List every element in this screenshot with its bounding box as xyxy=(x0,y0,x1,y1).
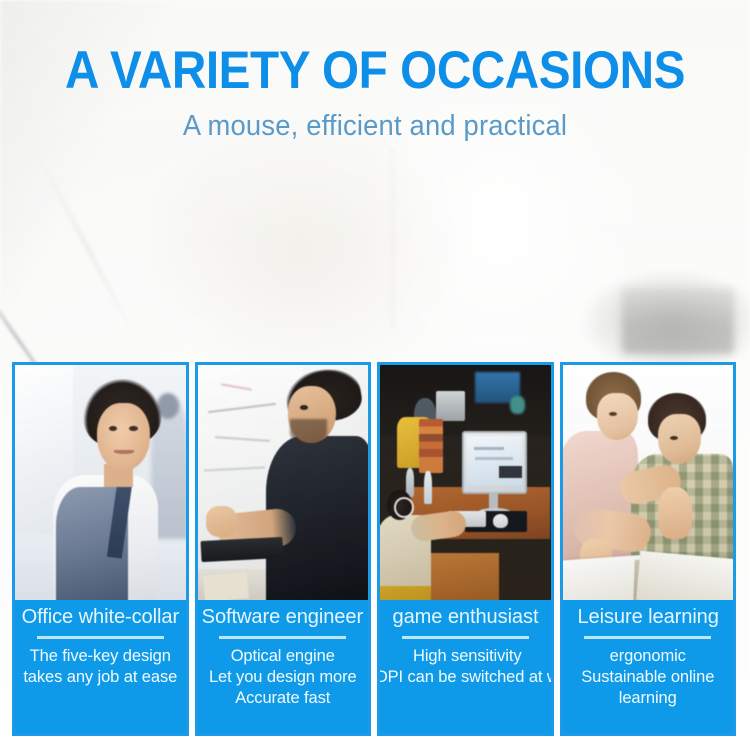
product-marketing-poster: A VARIETY OF OCCASIONS A mouse, efficien… xyxy=(0,0,750,750)
second-student-clasped-hands xyxy=(658,487,692,539)
use-case-panel-leisure-learning[interactable]: Leisure learning ergonomic Sustainable o… xyxy=(560,362,737,736)
panel-photo-leisure-learning xyxy=(563,365,734,600)
page-subtitle: A mouse, efficient and practical xyxy=(15,112,735,141)
first-student-face xyxy=(597,393,638,440)
use-case-panel-office-white-collar[interactable]: Office white-collar The five-key design … xyxy=(12,362,189,736)
teal-object xyxy=(510,396,525,415)
eye xyxy=(300,405,309,410)
caption-line: learning xyxy=(581,688,714,709)
panel-caption-software-engineer: Software engineer Optical engine Let you… xyxy=(198,600,369,733)
beard xyxy=(290,419,328,445)
typing-hand xyxy=(206,506,237,537)
use-case-panel-game-enthusiast[interactable]: game enthusiast High sensitivity DPI can… xyxy=(377,362,554,736)
caption-line: ergonomic xyxy=(581,646,714,667)
caption-line: The five-key design xyxy=(23,646,177,667)
caption-body: Optical engine Let you design more Accur… xyxy=(209,646,357,709)
bookshelf xyxy=(419,419,443,473)
caption-divider xyxy=(402,636,529,639)
caption-title: game enthusiast xyxy=(392,605,538,629)
screen-content-block xyxy=(499,466,521,478)
panel-photo-office-white-collar xyxy=(15,365,186,600)
scene-game-enthusiast xyxy=(380,365,551,600)
caption-title: Office white-collar xyxy=(22,605,179,629)
caption-divider xyxy=(37,636,164,639)
open-book-right-page xyxy=(636,551,733,600)
second-student-face xyxy=(658,414,701,463)
paper-sheet xyxy=(203,572,249,600)
second-student-eye xyxy=(670,436,679,440)
screen-content-line xyxy=(474,447,505,450)
panel-caption-game-enthusiast: game enthusiast High sensitivity DPI can… xyxy=(380,600,551,733)
scene-software-engineer xyxy=(198,365,369,600)
caption-line: Sustainable online xyxy=(581,667,714,688)
computer-mouse xyxy=(493,514,508,528)
caption-line: Accurate fast xyxy=(209,688,357,709)
use-case-panel-strip: Office white-collar The five-key design … xyxy=(12,362,736,736)
water-bottle xyxy=(424,471,432,504)
caption-line: High sensitivity xyxy=(380,646,551,667)
panel-photo-game-enthusiast xyxy=(380,365,551,600)
face xyxy=(97,403,150,471)
panel-caption-office-white-collar: Office white-collar The five-key design … xyxy=(15,600,186,733)
caption-divider xyxy=(219,636,346,639)
use-case-panel-software-engineer[interactable]: Software engineer Optical engine Let you… xyxy=(195,362,372,736)
caption-body: The five-key design takes any job at eas… xyxy=(23,646,177,688)
background-monitor xyxy=(436,391,465,422)
caption-title: Software engineer xyxy=(202,605,363,629)
page-title: A VARIETY OF OCCASIONS xyxy=(38,44,713,97)
caption-body: High sensitivity DPI can be switched at … xyxy=(380,646,551,688)
gaming-headset xyxy=(394,497,414,518)
caption-line: Let you design more xyxy=(209,667,357,688)
caption-body: ergonomic Sustainable online learning xyxy=(581,646,714,709)
keyboard xyxy=(200,537,283,562)
caption-divider xyxy=(584,636,711,639)
header-block: A VARIETY OF OCCASIONS A mouse, efficien… xyxy=(0,0,750,141)
caption-title: Leisure learning xyxy=(577,605,718,629)
caption-line: takes any job at ease xyxy=(23,667,177,688)
panel-caption-leisure-learning: Leisure learning ergonomic Sustainable o… xyxy=(563,600,734,733)
panel-photo-software-engineer xyxy=(198,365,369,600)
scene-office-white-collar xyxy=(15,365,186,600)
scene-leisure-learning xyxy=(563,365,734,600)
caption-line: Optical engine xyxy=(209,646,357,667)
caption-line: DPI can be switched at w xyxy=(380,667,551,688)
screen-content-line xyxy=(475,457,513,460)
